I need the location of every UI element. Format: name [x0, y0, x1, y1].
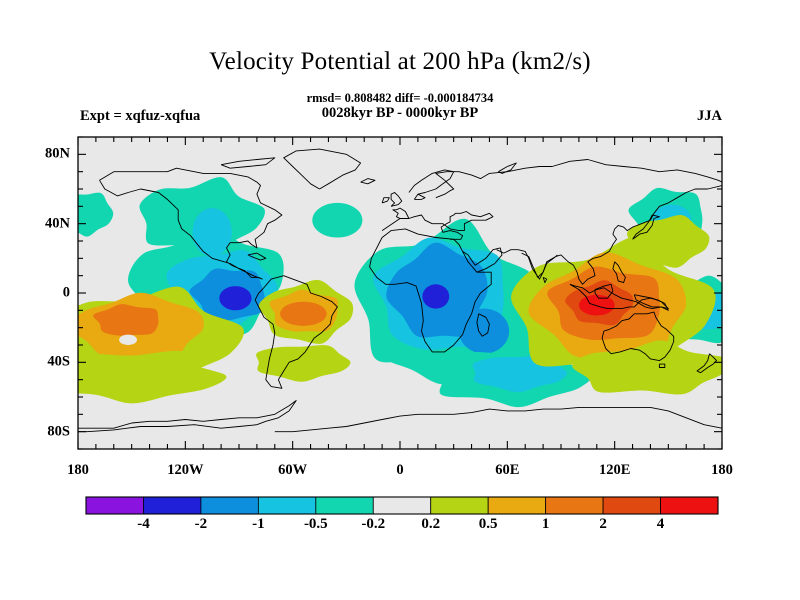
latitude-tick-label: 80N [26, 146, 70, 163]
contour-band [219, 286, 251, 310]
contour-band [422, 284, 449, 308]
colorbar-tick-label: -0.5 [304, 516, 328, 533]
contour-band [459, 309, 509, 354]
map-plot-area [0, 0, 800, 600]
colorbar-band [431, 497, 488, 514]
colorbar-tick-label: -1 [252, 516, 265, 533]
latitude-tick-label: 40N [26, 215, 70, 232]
colorbar-band [201, 497, 258, 514]
latitude-tick-label: 0 [26, 285, 70, 302]
longitude-tick-label: 60W [278, 462, 307, 479]
colorbar [86, 497, 718, 514]
colorbar-tick-label: 2 [599, 516, 607, 533]
colorbar-tick-label: -0.2 [361, 516, 385, 533]
colorbar-band [603, 497, 660, 514]
longitude-tick-label: 60E [495, 462, 519, 479]
colorbar-tick-label: 4 [657, 516, 665, 533]
colorbar-band [546, 497, 603, 514]
contour-band [280, 302, 327, 326]
colorbar-tick-label: -2 [195, 516, 208, 533]
latitude-tick-label: 40S [26, 354, 70, 371]
colorbar-band [258, 497, 315, 514]
colorbar-tick-label: 0.5 [479, 516, 498, 533]
contour-band [193, 208, 232, 257]
colorbar-band [143, 497, 200, 514]
longitude-tick-label: 120E [599, 462, 630, 479]
latitude-tick-label: 80S [26, 423, 70, 440]
colorbar-band [488, 497, 545, 514]
colorbar-band [661, 497, 718, 514]
longitude-tick-label: 0 [396, 462, 403, 479]
figure-panel: Velocity Potential at 200 hPa (km2/s) rm… [0, 0, 800, 600]
longitude-tick-label: 120W [167, 462, 203, 479]
longitude-tick-label: 180 [711, 462, 733, 479]
contour-band [579, 295, 615, 316]
longitude-tick-label: 180 [67, 462, 89, 479]
colorbar-tick-label: 1 [542, 516, 550, 533]
colorbar-band [316, 497, 373, 514]
colorbar-tick-label: -4 [137, 516, 150, 533]
colorbar-tick-label: 0.2 [421, 516, 440, 533]
contour-band [312, 203, 362, 238]
contour-band [119, 335, 137, 345]
colorbar-band [373, 497, 430, 514]
colorbar-band [86, 497, 143, 514]
